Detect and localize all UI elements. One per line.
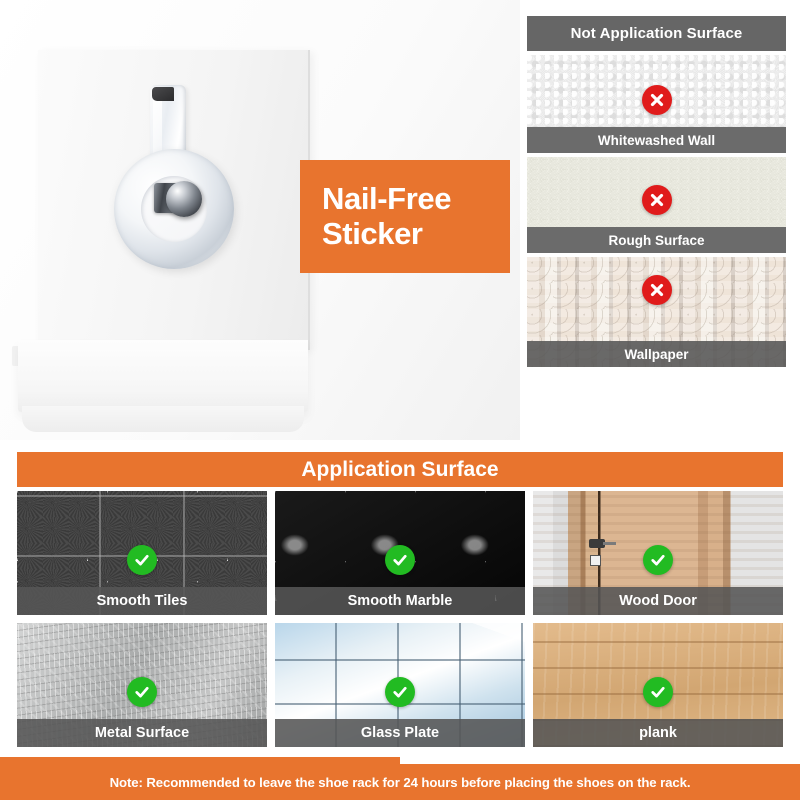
- surface-label: Glass Plate: [275, 719, 525, 747]
- not-application-panel: Not Application Surface Whitewashed Wall…: [527, 16, 786, 367]
- surface-card-wood-door: Wood Door: [533, 491, 783, 615]
- cross-icon: [642, 275, 672, 305]
- hook-ball-knob: [166, 181, 202, 217]
- surface-card-whitewashed-wall: Whitewashed Wall: [527, 55, 786, 153]
- door-lock-plate-icon: [590, 555, 601, 566]
- application-surface-grid: Smooth Tiles Smooth Marble Wood Door Met…: [17, 491, 783, 747]
- adhesive-hook: [108, 85, 238, 295]
- surface-label: Wood Door: [533, 587, 783, 615]
- surface-card-smooth-tiles: Smooth Tiles: [17, 491, 267, 615]
- title-line-2: Sticker: [322, 217, 510, 252]
- surface-label: Smooth Tiles: [17, 587, 267, 615]
- surface-label: plank: [533, 719, 783, 747]
- surface-label: Whitewashed Wall: [527, 127, 786, 153]
- hook-tip: [152, 87, 174, 101]
- shelf-lip: [22, 406, 304, 432]
- title-line-1: Nail-Free: [322, 182, 510, 217]
- surface-card-wallpaper: Wallpaper: [527, 257, 786, 367]
- cross-icon: [642, 185, 672, 215]
- shelf-board: [18, 340, 308, 412]
- check-icon: [127, 677, 157, 707]
- surface-card-rough-surface: Rough Surface: [527, 157, 786, 253]
- surface-card-smooth-marble: Smooth Marble: [275, 491, 525, 615]
- hook-ring-base: [114, 149, 234, 269]
- surface-card-plank: plank: [533, 623, 783, 747]
- surface-card-metal-surface: Metal Surface: [17, 623, 267, 747]
- check-icon: [385, 545, 415, 575]
- check-icon: [385, 677, 415, 707]
- surface-label: Smooth Marble: [275, 587, 525, 615]
- infographic-page: Nail-Free Sticker Not Application Surfac…: [0, 0, 800, 800]
- check-icon: [643, 677, 673, 707]
- check-icon: [127, 545, 157, 575]
- application-surface-header: Application Surface: [17, 452, 783, 487]
- surface-label: Wallpaper: [527, 341, 786, 367]
- note-bar-notch: [0, 757, 400, 764]
- surface-label: Rough Surface: [527, 227, 786, 253]
- note-bar: Note: Recommended to leave the shoe rack…: [0, 764, 800, 800]
- check-icon: [643, 545, 673, 575]
- door-handle-icon: [589, 539, 605, 548]
- cross-icon: [642, 85, 672, 115]
- surface-card-glass-plate: Glass Plate: [275, 623, 525, 747]
- product-title-block: Nail-Free Sticker: [300, 160, 510, 273]
- surface-label: Metal Surface: [17, 719, 267, 747]
- not-application-header: Not Application Surface: [527, 16, 786, 51]
